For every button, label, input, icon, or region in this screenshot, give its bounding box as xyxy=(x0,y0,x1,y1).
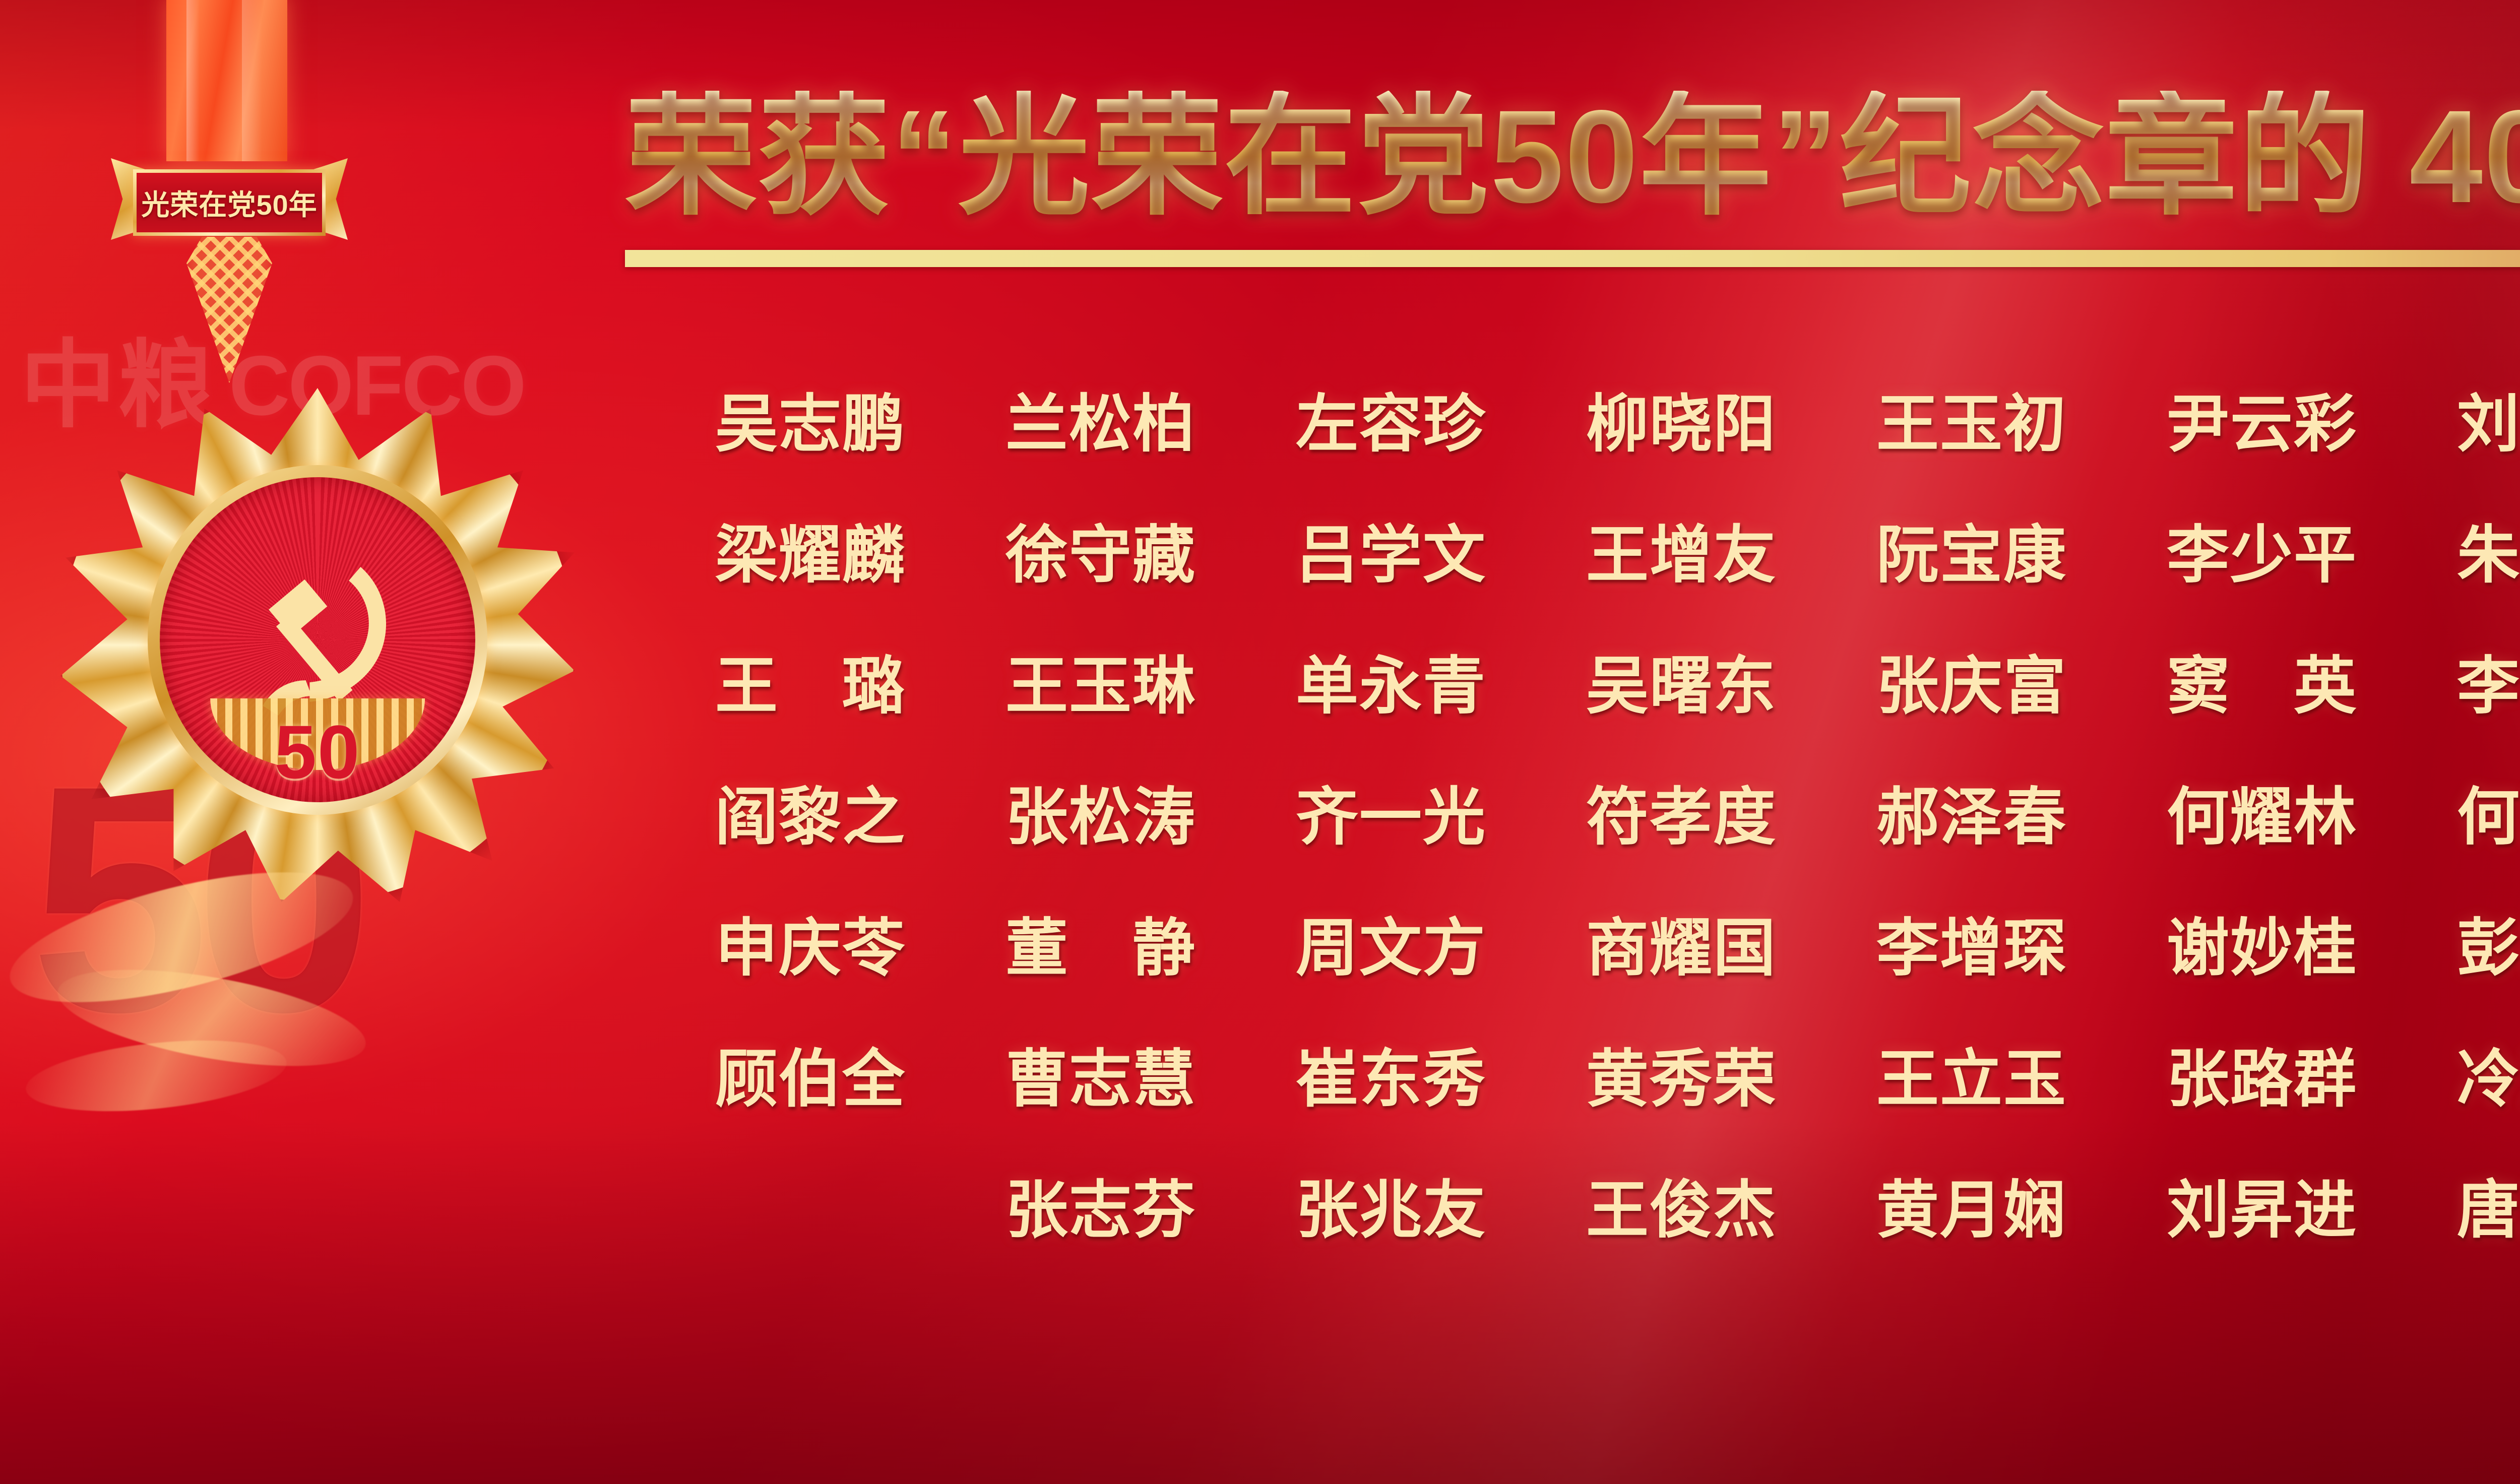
member-name: 唐正云 xyxy=(2407,1139,2520,1270)
chinese-knot-icon xyxy=(186,237,272,383)
member-name: 董 静 xyxy=(956,877,1246,1008)
member-name: 徐守藏 xyxy=(956,484,1246,615)
member-name: 李增琛 xyxy=(1826,877,2117,1008)
member-name: 齐一光 xyxy=(1246,746,1536,877)
member-name: 吕学文 xyxy=(1246,484,1536,615)
member-name: 王俊杰 xyxy=(1536,1139,1826,1270)
member-name: 彭家齐 xyxy=(2407,877,2520,1008)
medal-body: 50 xyxy=(60,388,575,902)
member-name: 王立玉 xyxy=(1826,1008,2117,1139)
member-name: 张兆友 xyxy=(1246,1139,1536,1270)
member-name: 阎黎之 xyxy=(665,746,956,877)
member-name: 黄秀荣 xyxy=(1536,1008,1826,1139)
member-name: 刘润庄 xyxy=(2407,353,2520,484)
medal-ribbon-strip xyxy=(166,0,287,161)
member-name: 申庆苓 xyxy=(665,877,956,1008)
member-name: 李少平 xyxy=(2117,484,2407,615)
member-name: 单永青 xyxy=(1246,615,1536,746)
member-name: 冷万长 xyxy=(2407,1008,2520,1139)
member-name: 谢妙桂 xyxy=(2117,877,2407,1008)
medal-illustration: 50 光荣在党50年 50 xyxy=(15,0,690,1310)
member-name: 阮宝康 xyxy=(1826,484,2117,615)
member-name: 梁耀麟 xyxy=(665,484,956,615)
member-name: 郝泽春 xyxy=(1826,746,2117,877)
member-name: 张庆富 xyxy=(1826,615,2117,746)
member-name: 左容珍 xyxy=(1246,353,1536,484)
member-name: 王玉琳 xyxy=(956,615,1246,746)
medal-50-number: 50 xyxy=(275,708,361,796)
member-name: 何耀林 xyxy=(2117,746,2407,877)
title-underline-rule xyxy=(625,250,2520,267)
member-name: 窦 英 xyxy=(2117,615,2407,746)
page-title: 荣获“光荣在党50年”纪念章的 404 名老党员 xyxy=(625,91,2520,223)
member-name: 崔东秀 xyxy=(1246,1008,1536,1139)
poster-root: 中粮 COFCO 50 光荣在党50年 xyxy=(0,0,2520,1484)
medal-banner: 光荣在党50年 xyxy=(111,151,348,247)
title-block: 荣获“光荣在党50年”纪念章的 404 名老党员 xyxy=(625,91,2520,267)
member-name: 兰松柏 xyxy=(956,353,1246,484)
member-name: 柳晓阳 xyxy=(1536,353,1826,484)
member-name: 商耀国 xyxy=(1536,877,1826,1008)
medal-rim: 50 xyxy=(148,465,487,815)
member-name: 张路群 xyxy=(2117,1008,2407,1139)
member-name-placeholder xyxy=(665,1139,956,1270)
member-name: 吴志鹏 xyxy=(665,353,956,484)
member-name: 曹志慧 xyxy=(956,1008,1246,1139)
member-name: 何玉茹 xyxy=(2407,746,2520,877)
member-name: 尹云彩 xyxy=(2117,353,2407,484)
banner-label: 光荣在党50年 xyxy=(141,182,317,223)
member-name: 黄月娴 xyxy=(1826,1139,2117,1270)
member-name: 王增友 xyxy=(1536,484,1826,615)
member-name: 符孝度 xyxy=(1536,746,1826,877)
member-name: 王玉初 xyxy=(1826,353,2117,484)
member-name: 刘昇进 xyxy=(2117,1139,2407,1270)
member-name: 张志芬 xyxy=(956,1139,1246,1270)
banner-plate: 光荣在党50年 xyxy=(133,169,326,236)
medal-face: 50 xyxy=(160,477,475,802)
member-name-grid: 吴志鹏兰松柏左容珍柳晓阳王玉初尹云彩刘润庄邓秀光戚汝权黄建仁梁耀麟徐守藏吕学文王… xyxy=(665,353,2520,1270)
member-name: 朱恩林 xyxy=(2407,484,2520,615)
member-name: 周文方 xyxy=(1246,877,1536,1008)
member-name: 张松涛 xyxy=(956,746,1246,877)
member-name: 吴曙东 xyxy=(1536,615,1826,746)
member-name: 顾伯全 xyxy=(665,1008,956,1139)
member-name: 王 璐 xyxy=(665,615,956,746)
member-name: 李 智 xyxy=(2407,615,2520,746)
